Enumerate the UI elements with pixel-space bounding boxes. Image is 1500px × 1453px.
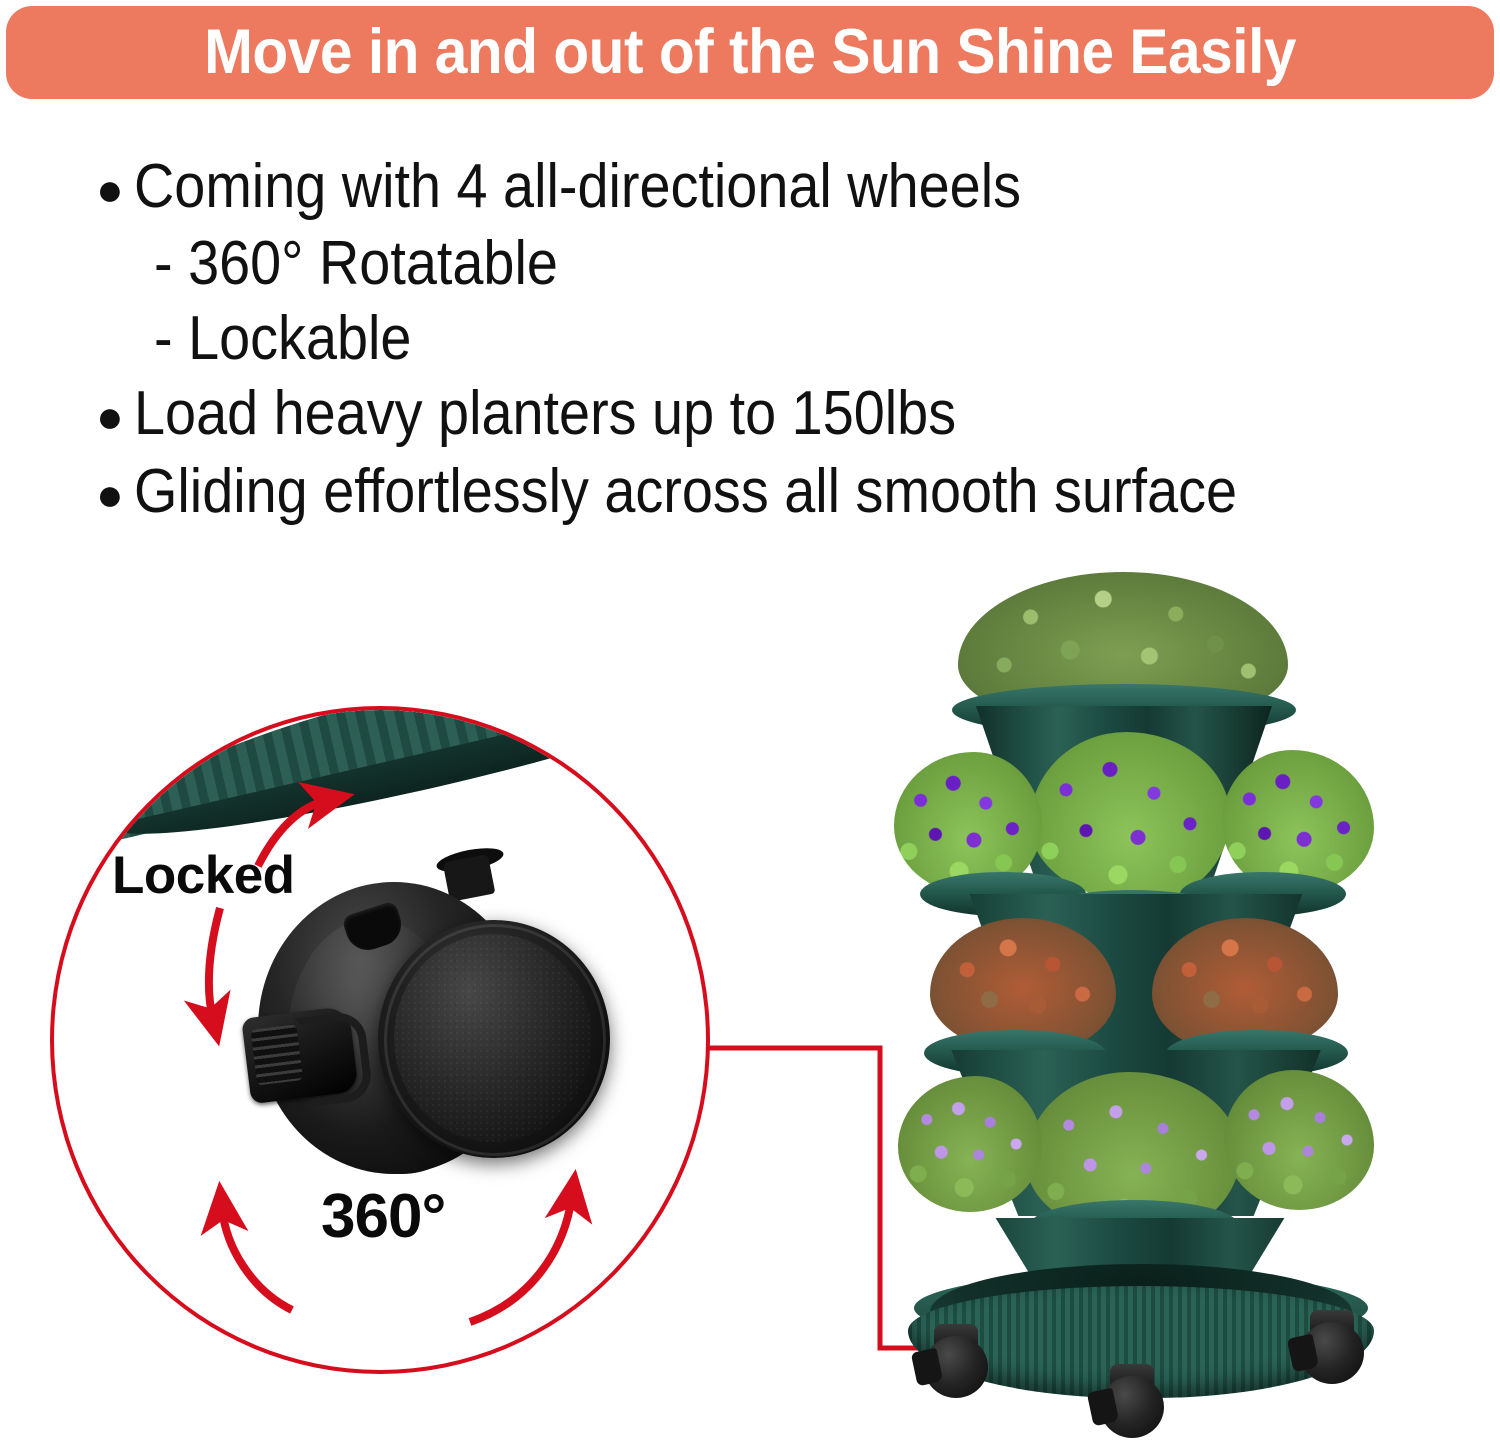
header-banner: Move in and out of the Sun Shine Easily [6, 6, 1494, 99]
plant-lilac-lobelia-left [898, 1076, 1042, 1212]
callout-circle-outline [50, 706, 710, 1374]
feature-text: Coming with 4 all-directional wheels [134, 150, 1021, 223]
caster-lock-lever [241, 1006, 359, 1105]
base-caster-right [1290, 1310, 1376, 1384]
bullet-dot-icon: ● [96, 166, 116, 212]
wheeled-base [908, 1264, 1374, 1414]
list-item: ● Coming with 4 all-directional wheels [96, 150, 1486, 223]
caster-wheel-rim [384, 924, 606, 1156]
caster-wheel [378, 920, 610, 1158]
list-item: - 360° Rotatable [96, 227, 1486, 300]
base-caster-front [1090, 1364, 1176, 1438]
caster-wheel-assembly [250, 872, 610, 1202]
locked-label: Locked [112, 849, 295, 902]
bullet-dot-icon: ● [96, 393, 116, 439]
list-item: ● Gliding effortlessly across all smooth… [96, 455, 1486, 528]
plant-lilac-lobelia-right [1224, 1070, 1374, 1210]
planter-tower [880, 572, 1500, 1453]
list-item: - Lockable [96, 302, 1486, 375]
feature-list: ● Coming with 4 all-directional wheels -… [96, 150, 1486, 532]
page-title: Move in and out of the Sun Shine Easily [204, 21, 1296, 84]
feature-subtext: - 360° Rotatable [154, 227, 558, 300]
caster-detail-callout [50, 706, 710, 1374]
lock-lever-arm [294, 1010, 374, 1108]
list-item: ● Load heavy planters up to 150lbs [96, 377, 1486, 450]
feature-text: Load heavy planters up to 150lbs [134, 377, 956, 450]
rotation-degree-label: 360° [321, 1186, 445, 1248]
bullet-dot-icon: ● [96, 471, 116, 517]
base-caster-left [914, 1324, 1000, 1398]
feature-text: Gliding effortlessly across all smooth s… [134, 455, 1237, 528]
feature-subtext: - Lockable [154, 302, 411, 375]
plant-purple-pansies-center [1030, 732, 1230, 902]
